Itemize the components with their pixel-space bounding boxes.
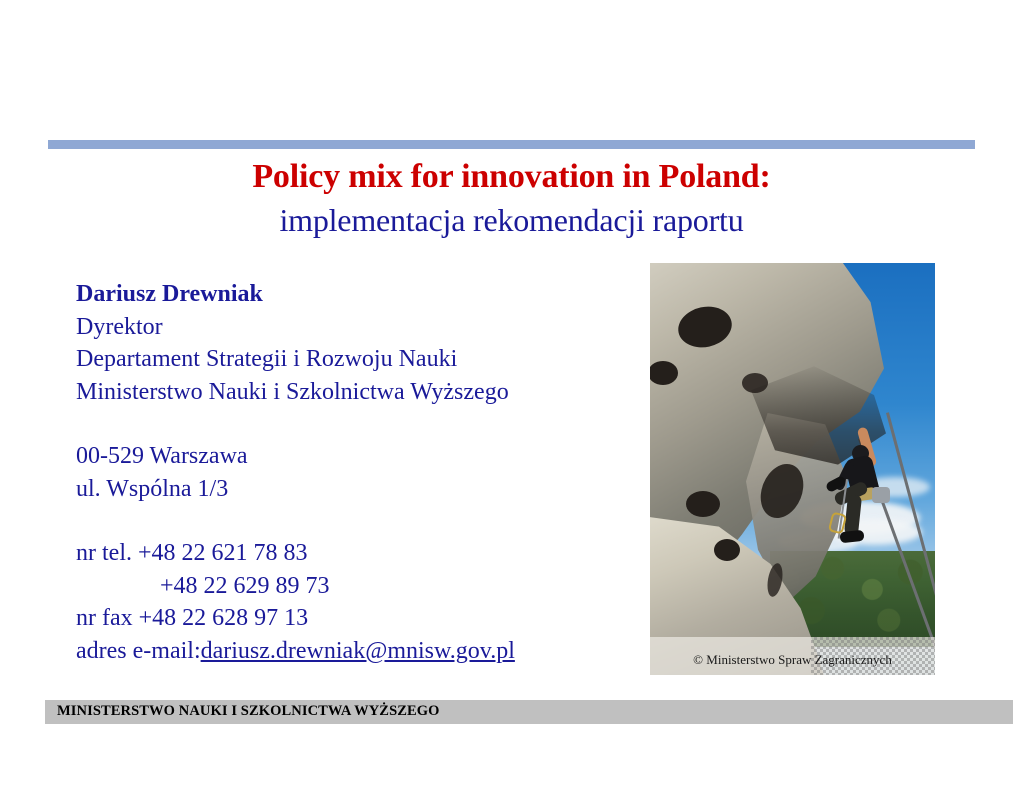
contact-name: Dariusz Drewniak — [76, 278, 636, 311]
title-block: Policy mix for innovation in Poland: imp… — [48, 155, 975, 241]
contact-street: ul. Wspólna 1/3 — [76, 473, 636, 506]
contact-email-link[interactable]: dariusz.drewniak@mnisw.gov.pl — [201, 638, 515, 664]
contact-fax: nr fax +48 22 628 97 13 — [76, 602, 636, 635]
spacer-2 — [76, 505, 636, 537]
chalk-bag — [872, 487, 890, 503]
rock-pocket — [686, 491, 720, 517]
contact-block: Dariusz Drewniak Dyrektor Departament St… — [76, 278, 636, 667]
contact-phone-primary: nr tel. +48 22 621 78 83 — [76, 537, 636, 570]
climbing-shoe — [839, 530, 864, 543]
photo-credit: © Ministerstwo Spraw Zagranicznych — [650, 652, 935, 668]
contact-postal-city: 00-529 Warszawa — [76, 440, 636, 473]
page-subtitle: implementacja rekomendacji raportu — [48, 199, 975, 241]
contact-organization: Ministerstwo Nauki i Szkolnictwa Wyższeg… — [76, 376, 636, 409]
contact-position: Dyrektor — [76, 311, 636, 344]
title-divider-rule — [48, 140, 975, 149]
rock-pocket — [742, 373, 768, 393]
contact-department: Departament Strategii i Rozwoju Nauki — [76, 343, 636, 376]
page-title: Policy mix for innovation in Poland: — [48, 155, 975, 199]
contact-email-label: adres e-mail: — [76, 638, 201, 664]
climber-photo: © Ministerstwo Spraw Zagranicznych — [650, 263, 935, 675]
footer-bar: MINISTERSTWO NAUKI I SZKOLNICTWA WYŻSZEG… — [45, 700, 1013, 724]
rock-pocket — [714, 539, 740, 561]
contact-phone-secondary: +48 22 629 89 73 — [76, 570, 636, 603]
spacer-1 — [76, 408, 636, 440]
contact-email-line: adres e-mail:dariusz.drewniak@mnisw.gov.… — [76, 635, 636, 668]
footer-ministry-name: MINISTERSTWO NAUKI I SZKOLNICTWA WYŻSZEG… — [57, 703, 440, 720]
presentation-slide: Policy mix for innovation in Poland: imp… — [0, 0, 1024, 791]
